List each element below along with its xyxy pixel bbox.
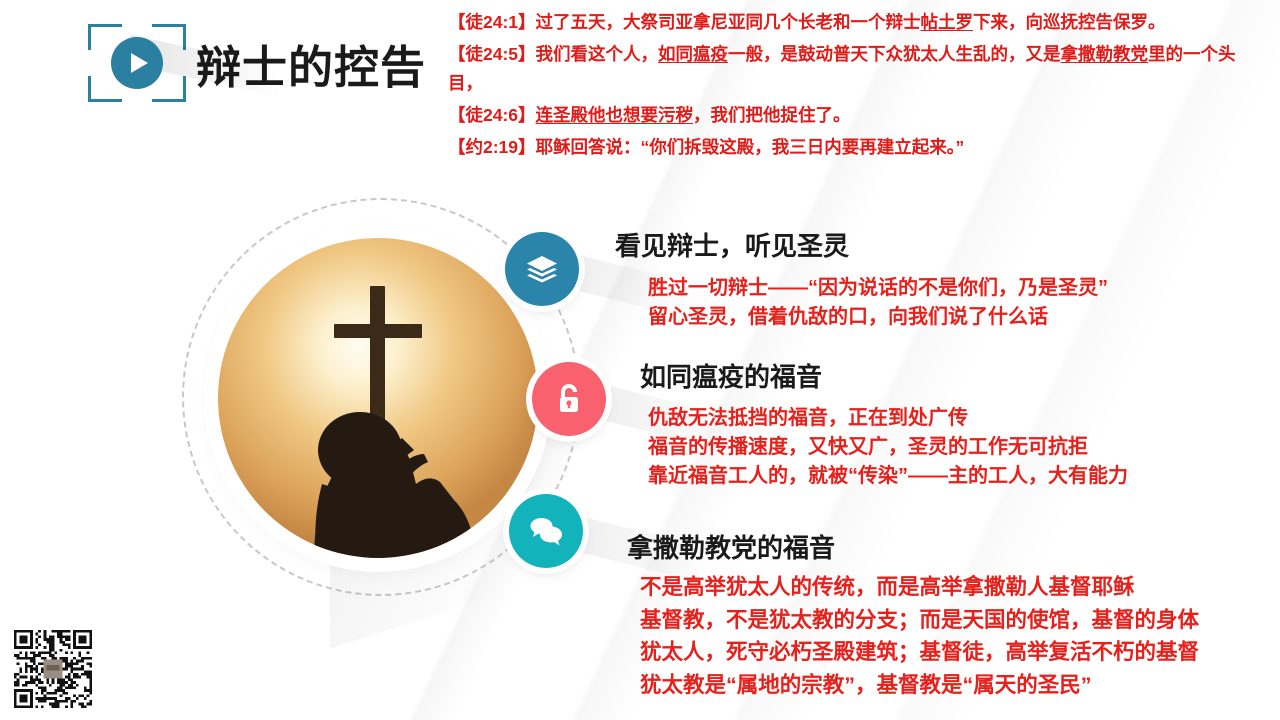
scripture-line: 【徒24:5】我们看这个人，如同瘟疫一般，是鼓动普天下众犹太人生乱的，又是拿撒勒… [448,40,1268,97]
cross-silhouette-art [218,238,538,558]
section-heading: 看见辩士，听见圣灵 [615,226,849,263]
scripture-block: 【徒24:1】过了五天，大祭司亚拿尼亚同几个长老和一个辩士帖土罗下来，向巡抚控告… [448,8,1268,166]
section-body-line: 犹太人，死守必朽圣殿建筑；基督徒，高举复活不朽的基督 [640,636,1199,669]
scripture-text: 过了五天，大祭司亚拿尼亚同几个长老和一个辩士 [536,12,921,32]
qr-code[interactable] [14,630,92,708]
section-body-line: 福音的传播速度，又快又广，圣灵的工作无可抗拒 [648,433,1128,462]
section-body: 仇敌无法抵挡的福音，正在到处广传福音的传播速度，又快又广，圣灵的工作无可抗拒靠近… [648,404,1128,490]
section-body-line: 靠近福音工人的，就被“传染”——主的工人，大有能力 [648,462,1128,491]
section-body-line: 胜过一切辩士——“因为说话的不是你们，乃是圣灵” [648,274,1108,303]
layers-icon[interactable] [505,232,579,306]
section-body: 不是高举犹太人的传统，而是高举拿撒勒人基督耶稣基督教，不是犹太教的分支；而是天国… [640,571,1199,702]
play-icon[interactable] [111,37,163,89]
bracket-frame [88,24,186,102]
scripture-text: 耶稣回答说：“你们拆毁这殿，我三日内要再建立起来。” [536,137,965,157]
chat-bubbles-icon[interactable] [509,494,583,568]
scripture-emphasis: 拿撒勒教党 [1061,44,1149,64]
scripture-emphasis: 连圣殿他也想要污秽 [536,105,694,125]
section-body-line: 留心圣灵，借着仇敌的口，向我们说了什么话 [648,303,1108,332]
section-body-line: 犹太教是“属地的宗教”，基督教是“属天的圣民” [640,669,1199,702]
scripture-emphasis: 如同瘟疫 [658,44,728,64]
scripture-line: 【徒24:6】连圣殿他也想要污秽，我们把他捉住了。 [448,101,1268,129]
section-body-line: 仇敌无法抵挡的福音，正在到处广传 [648,404,1128,433]
scripture-text: 一般，是鼓动普天下众犹太人生乱的，又是 [728,44,1061,64]
scripture-reference: 【徒24:5】 [448,44,536,64]
scripture-line: 【约2:19】耶稣回答说：“你们拆毁这殿，我三日内要再建立起来。” [448,133,1268,161]
photo-circle-frame [218,238,538,558]
section-heading: 如同瘟疫的福音 [640,357,822,394]
scripture-line: 【徒24:1】过了五天，大祭司亚拿尼亚同几个长老和一个辩士帖土罗下来，向巡抚控告… [448,8,1268,36]
scripture-reference: 【徒24:6】 [448,105,536,125]
section-body-line: 基督教，不是犹太教的分支；而是天国的使馆，基督的身体 [640,604,1199,637]
scripture-emphasis: 帖土罗 [921,12,974,32]
section-heading: 拿撒勒教党的福音 [627,528,835,565]
scripture-text: 我们看这个人， [536,44,659,64]
section-body: 胜过一切辩士——“因为说话的不是你们，乃是圣灵”留心圣灵，借着仇敌的口，向我们说… [648,274,1108,332]
cross-silhouette-photo [218,238,538,558]
unlock-icon[interactable] [532,362,606,436]
section-body-line: 不是高举犹太人的传统，而是高举拿撒勒人基督耶稣 [640,571,1199,604]
scripture-reference: 【约2:19】 [448,137,536,157]
scripture-text: ，我们把他捉住了。 [693,105,851,125]
scripture-reference: 【徒24:1】 [448,12,536,32]
slide-title-block: 辩士的控告 [88,24,426,102]
scripture-text: 下来，向巡抚控告保罗。 [973,12,1166,32]
